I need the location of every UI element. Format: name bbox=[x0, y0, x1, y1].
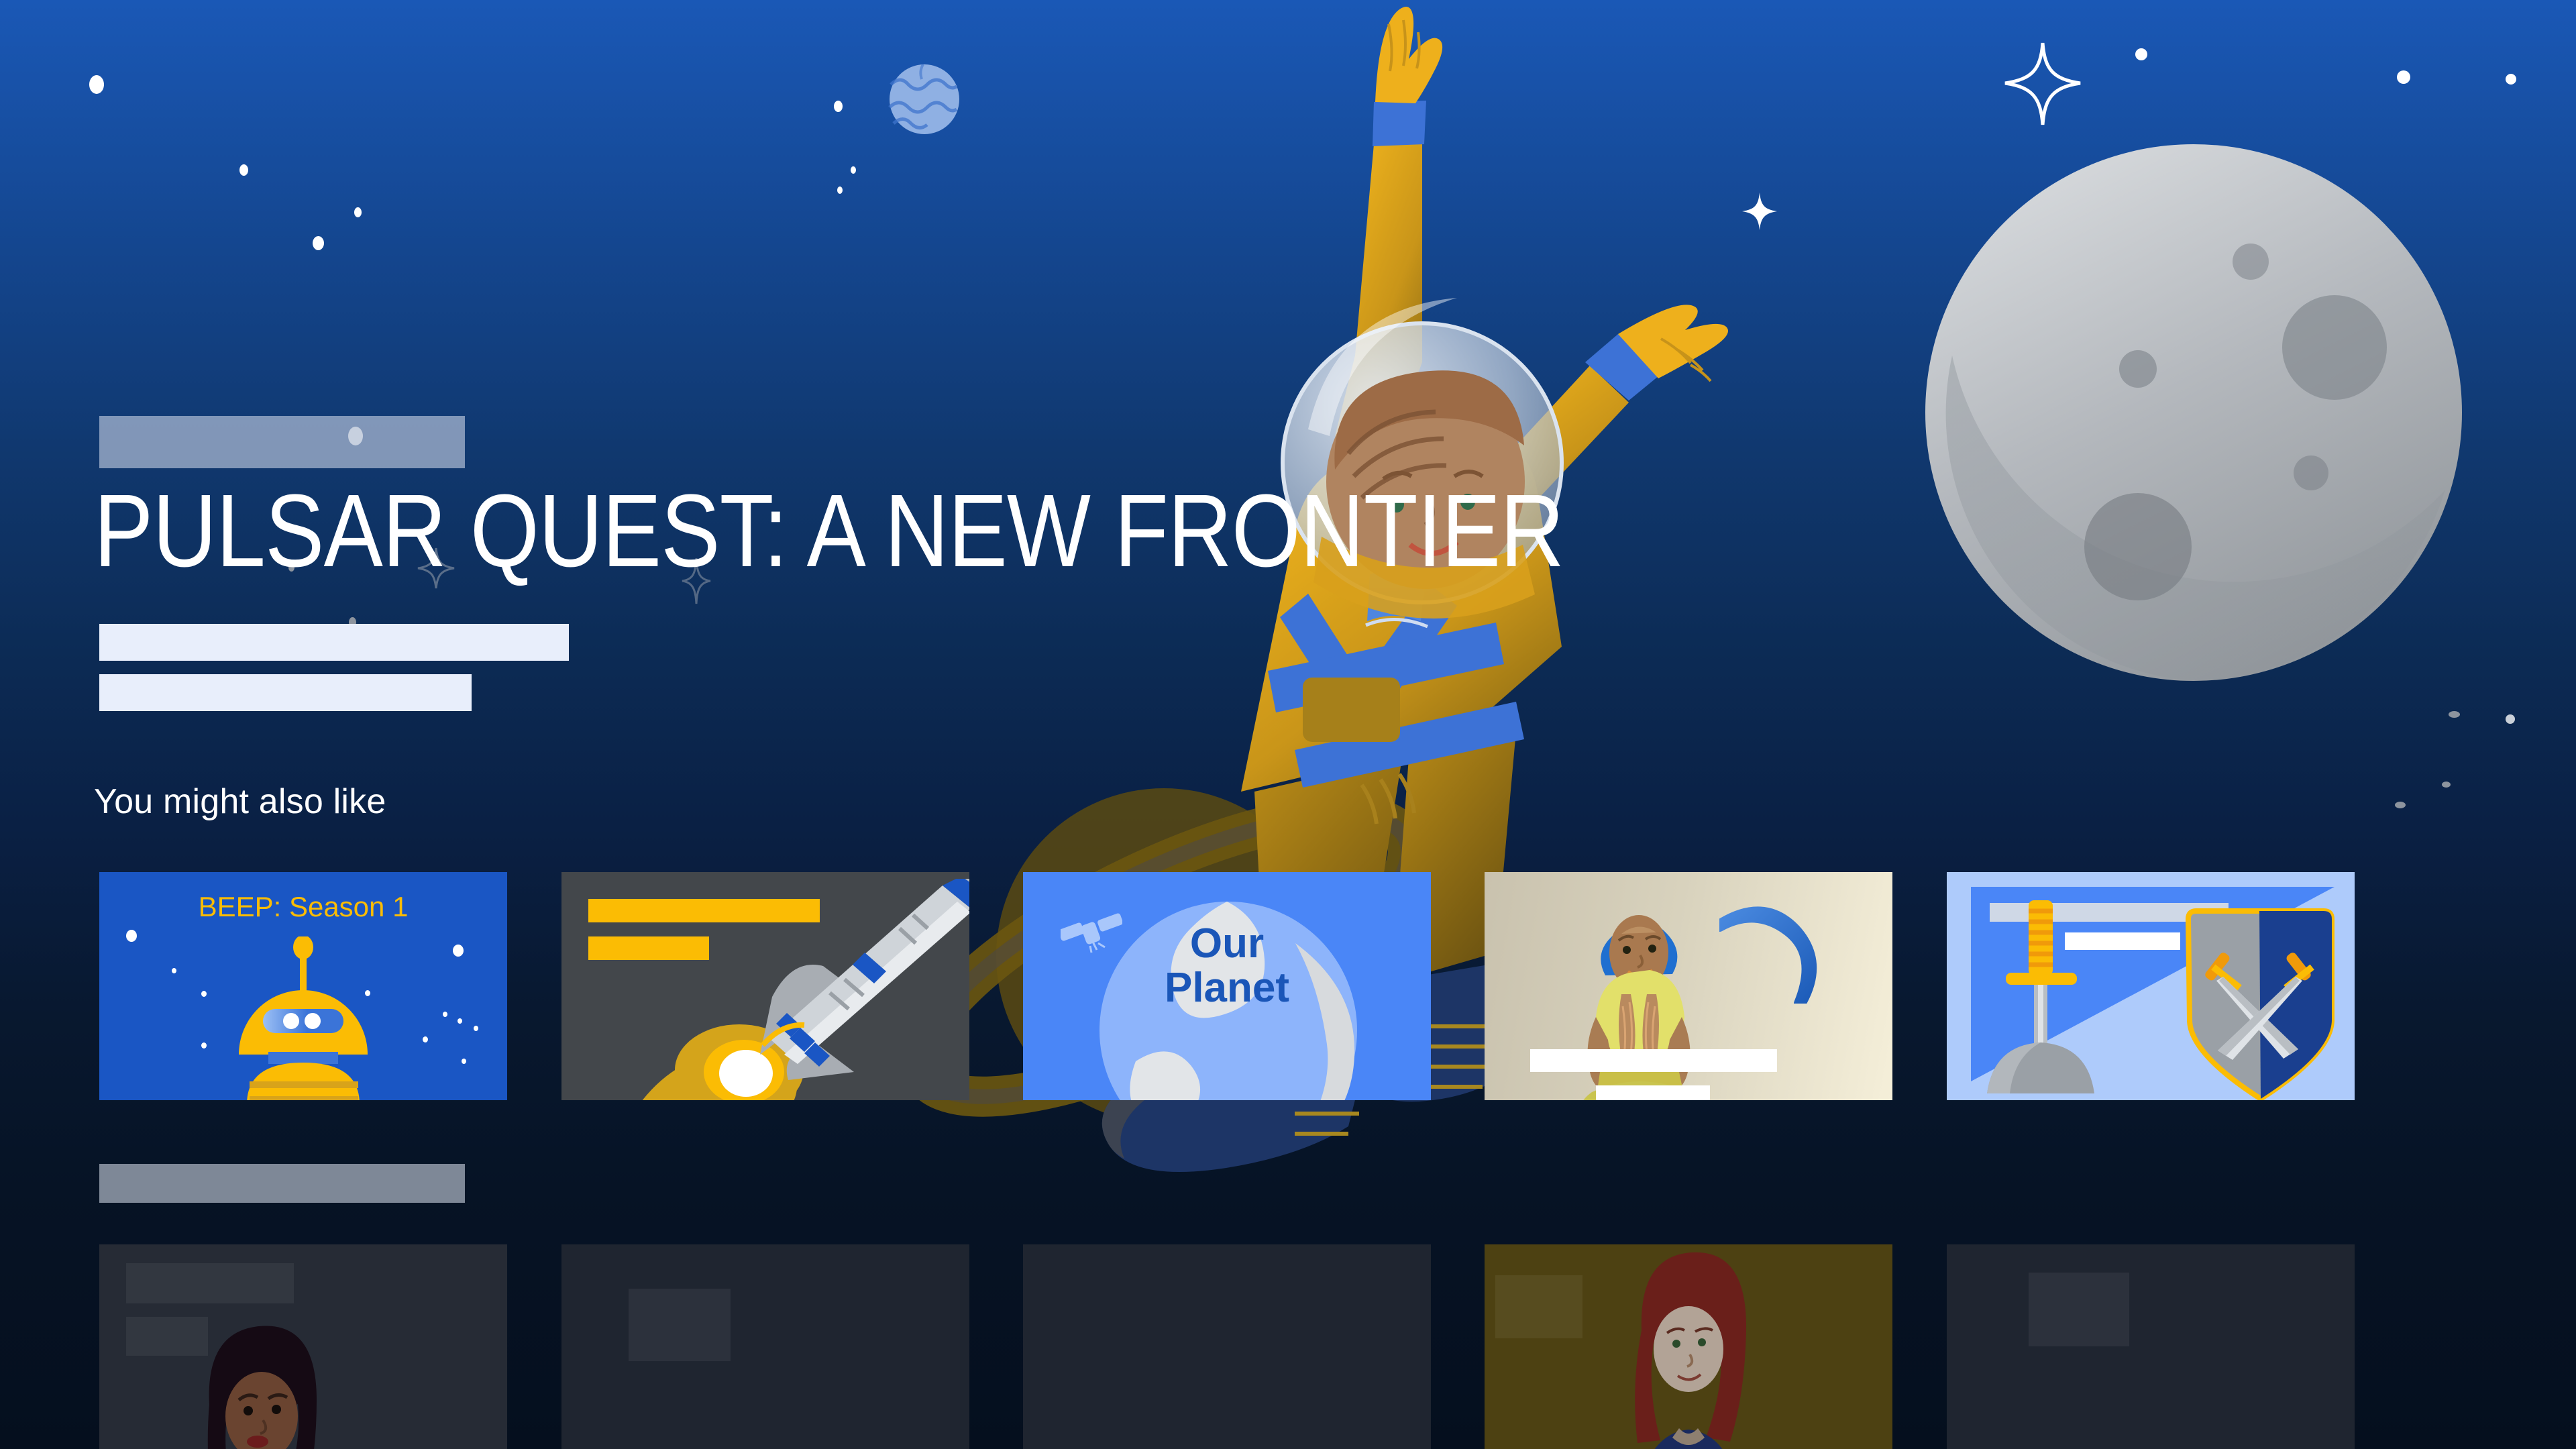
card-beep-season-1[interactable]: BEEP: Season 1 bbox=[99, 872, 507, 1100]
hero-meta-placeholder-1 bbox=[99, 624, 569, 661]
rocket-icon bbox=[629, 879, 969, 1100]
page-title: PULSAR QUEST: A NEW FRONTIER bbox=[94, 480, 1564, 581]
row2-card-4[interactable] bbox=[1485, 1244, 1892, 1449]
sword-and-shield-illustration bbox=[1947, 872, 2355, 1100]
card-our-planet[interactable]: Our Planet bbox=[1023, 872, 1431, 1100]
card-meditation[interactable] bbox=[1485, 872, 1892, 1100]
card-sword-and-shield[interactable] bbox=[1947, 872, 2355, 1100]
rail-heading: You might also like bbox=[94, 782, 386, 822]
card-rocket-launch[interactable] bbox=[561, 872, 969, 1100]
card-title-line-2: Planet bbox=[1023, 966, 1431, 1010]
card-title: BEEP: Season 1 bbox=[99, 891, 507, 923]
star bbox=[453, 945, 464, 957]
row2-card-3[interactable] bbox=[1023, 1244, 1431, 1449]
star bbox=[201, 991, 207, 997]
card-placeholder-line bbox=[1495, 1275, 1582, 1338]
star bbox=[201, 1042, 207, 1049]
hero-meta-placeholder-2 bbox=[99, 674, 472, 711]
card-title-line-1: Our bbox=[1023, 922, 1431, 966]
star bbox=[462, 1059, 466, 1064]
hero-eyebrow-placeholder bbox=[99, 416, 465, 468]
card-placeholder-line bbox=[1530, 1049, 1777, 1072]
card-placeholder-line bbox=[2029, 1273, 2129, 1346]
card-placeholder-line bbox=[629, 1289, 731, 1361]
card-title: Our Planet bbox=[1023, 922, 1431, 1010]
star bbox=[423, 1036, 428, 1042]
row2-card-2[interactable] bbox=[561, 1244, 969, 1449]
star bbox=[126, 930, 137, 942]
row2-card-1[interactable] bbox=[99, 1244, 507, 1449]
crescent-moon-icon bbox=[1719, 903, 1820, 1004]
robot-icon bbox=[224, 936, 382, 1100]
page-content: PULSAR QUEST: A NEW FRONTIER You might a… bbox=[0, 0, 2576, 1449]
card-placeholder-line bbox=[126, 1263, 294, 1303]
star bbox=[172, 968, 176, 973]
person-avatar-illustration bbox=[1595, 1250, 1782, 1449]
star bbox=[474, 1026, 478, 1031]
star bbox=[443, 1012, 447, 1017]
card-placeholder-line bbox=[1596, 1085, 1710, 1100]
star bbox=[458, 1018, 462, 1024]
person-avatar-illustration bbox=[174, 1316, 349, 1449]
row2-card-5[interactable] bbox=[1947, 1244, 2355, 1449]
second-row-heading-placeholder bbox=[99, 1164, 465, 1203]
